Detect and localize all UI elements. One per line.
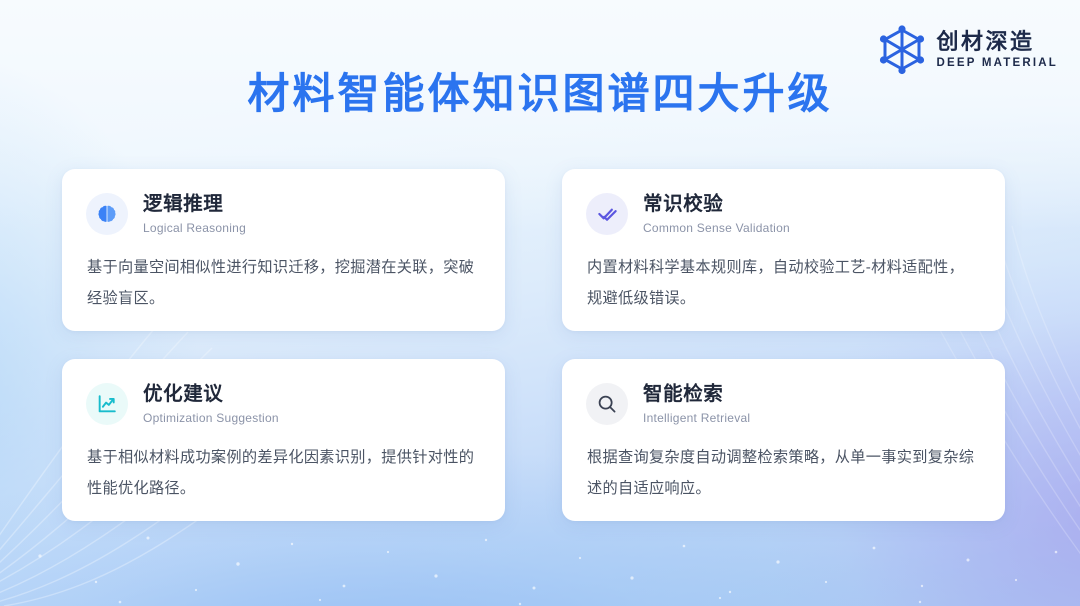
page-title: 材料智能体知识图谱四大升级 [0,60,1080,121]
card-heading-text: 智能检索 Intelligent Retrieval [643,382,750,426]
feature-card-grid: 逻辑推理 Logical Reasoning 基于向量空间相似性进行知识迁移，挖… [62,169,1018,521]
card-description: 根据查询复杂度自动调整检索策略，从单一事实到复杂综述的自适应响应。 [587,442,979,504]
card-title: 优化建议 [143,383,279,405]
card-subtitle: Common Sense Validation [643,221,790,235]
line-chart-icon [86,383,128,425]
feature-card-common-sense-validation[interactable]: 常识校验 Common Sense Validation 内置材料科学基本规则库… [562,169,1005,331]
card-title: 常识校验 [643,193,790,215]
card-description: 基于向量空间相似性进行知识迁移，挖掘潜在关联，突破经验盲区。 [87,252,479,314]
card-description: 基于相似材料成功案例的差异化因素识别，提供针对性的性能优化路径。 [87,442,479,504]
logo-name-cn: 创材深造 [937,31,1058,53]
brain-icon [86,193,128,235]
card-subtitle: Intelligent Retrieval [643,411,750,425]
card-header: 逻辑推理 Logical Reasoning [86,192,479,236]
feature-card-optimization-suggestion[interactable]: 优化建议 Optimization Suggestion 基于相似材料成功案例的… [62,359,505,521]
card-heading-text: 常识校验 Common Sense Validation [643,192,790,236]
card-heading-text: 优化建议 Optimization Suggestion [143,382,279,426]
card-subtitle: Logical Reasoning [143,221,246,235]
card-subtitle: Optimization Suggestion [143,411,279,425]
feature-card-logical-reasoning[interactable]: 逻辑推理 Logical Reasoning 基于向量空间相似性进行知识迁移，挖… [62,169,505,331]
double-check-icon [586,193,628,235]
feature-card-intelligent-retrieval[interactable]: 智能检索 Intelligent Retrieval 根据查询复杂度自动调整检索… [562,359,1005,521]
card-title: 逻辑推理 [143,193,246,215]
card-description: 内置材料科学基本规则库，自动校验工艺-材料适配性，规避低级错误。 [587,252,979,314]
card-heading-text: 逻辑推理 Logical Reasoning [143,192,246,236]
card-title: 智能检索 [643,383,750,405]
slide-root: 创材深造 DEEP MATERIAL 材料智能体知识图谱四大升级 逻辑推理 Lo… [0,0,1080,606]
card-header: 优化建议 Optimization Suggestion [86,382,479,426]
card-header: 智能检索 Intelligent Retrieval [586,382,979,426]
search-icon [586,383,628,425]
card-header: 常识校验 Common Sense Validation [586,192,979,236]
